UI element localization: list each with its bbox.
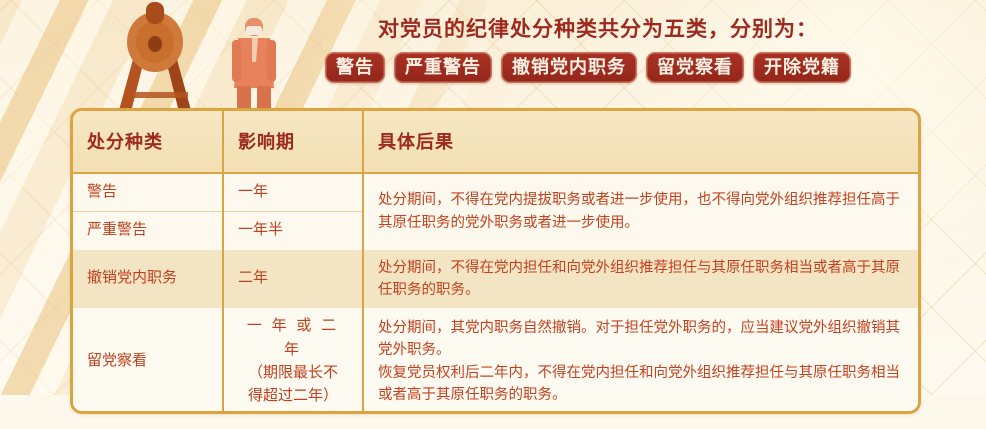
cell-kind-probation: 留党察看 [73,308,223,414]
column-header-kind: 处分种类 [73,111,223,173]
period-line-3: 得超过二年） [238,385,348,408]
badge-serious-warning[interactable]: 严重警告 [394,52,492,83]
badge-warning[interactable]: 警告 [325,52,385,83]
poster-root: 对党员的纪律处分种类共分为五类，分别为： 警告 严重警告 撤销党内职务 留党察看… [0,0,986,429]
table-row: 警告 一年 处分期间，不得在党内提拔职务或者进一步使用，也不得向党外组织推荐担任… [73,173,918,212]
cell-kind-remove-post: 撤销党内职务 [73,250,223,309]
table-row: 留党察看 一 年 或 二 年 （期限最长不 得超过二年） 处分期间，其党内职务自… [73,308,918,414]
cell-kind-warning: 警告 [73,173,223,212]
discipline-table-container: 处分种类 影响期 具体后果 警告 一年 处分期间，不得在党内提拔职务或者进一步使… [70,108,921,414]
period-line-1: 一 年 或 二 年 [238,315,348,362]
badge-expulsion[interactable]: 开除党籍 [753,52,851,83]
discipline-table: 处分种类 影响期 具体后果 警告 一年 处分期间，不得在党内提拔职务或者进一步使… [73,111,918,414]
badge-probation[interactable]: 留党察看 [646,52,744,83]
consequence-paragraph-1: 处分期间，其党内职务自然撤销。对于担任党外职务的，应当建议党外组织撤销其党外职务… [378,317,904,362]
cell-consequence-remove-post: 处分期间，不得在党内担任和向党外组织推荐担任与其原任职务相当或者高于其原任职务的… [363,250,918,309]
table-row: 撤销党内职务 二年 处分期间，不得在党内担任和向党外组织推荐担任与其原任职务相当… [73,250,918,309]
column-header-period: 影响期 [223,111,363,173]
discipline-type-badge-list: 警告 严重警告 撤销党内职务 留党察看 开除党籍 [325,52,851,83]
cell-consequence-probation: 处分期间，其党内职务自然撤销。对于担任党外职务的，应当建议党外组织撤销其党外职务… [363,308,918,414]
cell-consequence-warning: 处分期间，不得在党内提拔职务或者进一步使用，也不得向党外组织推荐担任高于其原任职… [363,173,918,250]
standing-person-figure [232,18,276,118]
table-header-row: 处分种类 影响期 具体后果 [73,111,918,173]
compass-divider-icon [118,2,192,116]
cell-period-warning: 一年 [223,173,363,212]
cell-period-probation: 一 年 或 二 年 （期限最长不 得超过二年） [223,308,363,414]
page-title: 对党员的纪律处分种类共分为五类，分别为： [378,13,978,43]
consequence-paragraph-2: 恢复党员权利后二年内，不得在党内担任和向党外组织推荐担任与其原任职务相当或者高于… [378,362,904,407]
badge-remove-party-post[interactable]: 撤销党内职务 [501,52,637,83]
period-line-2: （期限最长不 [238,362,348,385]
cell-period-serious-warning: 一年半 [223,212,363,250]
column-header-consequence: 具体后果 [363,111,918,173]
cell-kind-serious-warning: 严重警告 [73,212,223,250]
cell-period-remove-post: 二年 [223,250,363,309]
